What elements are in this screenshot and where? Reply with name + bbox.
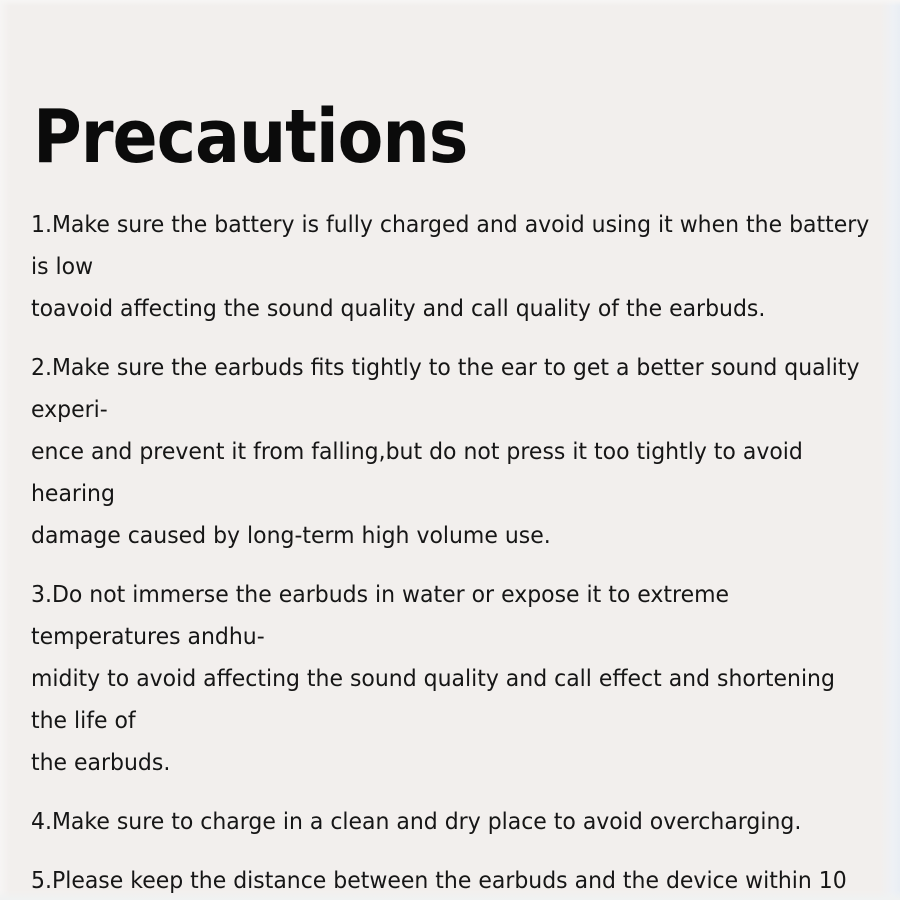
- page-title: Precautions: [33, 100, 467, 174]
- precaution-item-2: 2.Make sure the earbuds fits tightly to …: [31, 346, 877, 556]
- precaution-list: 1.Make sure the battery is fully charged…: [31, 203, 876, 900]
- top-edge-highlight: [0, 0, 900, 6]
- precautions-page: Precautions 1.Make sure the battery is f…: [0, 0, 900, 900]
- precaution-item-4: 4.Make sure to charge in a clean and dry…: [31, 800, 877, 842]
- precaution-item-3: 3.Do not immerse the earbuds in water or…: [31, 573, 877, 783]
- precaution-item-5: 5.Please keep the distance between the e…: [31, 859, 877, 900]
- precaution-item-1: 1.Make sure the battery is fully charged…: [31, 203, 877, 329]
